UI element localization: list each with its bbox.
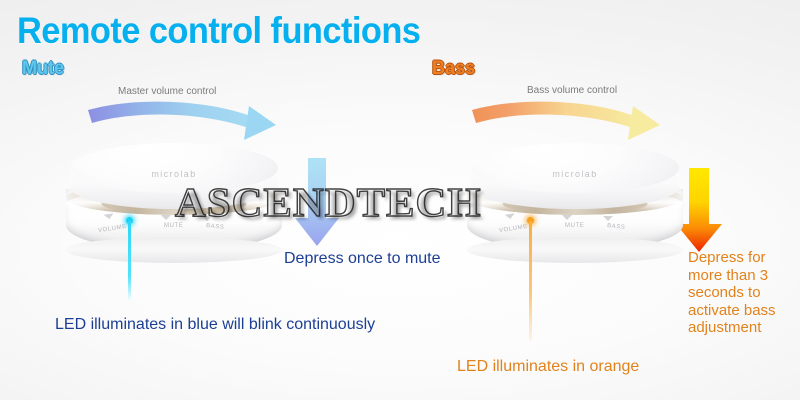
mute-marker-icon[interactable] (161, 215, 171, 220)
infographic-canvas: Remote control functions Mute Master vol… (0, 0, 800, 400)
button-label-volume[interactable]: VOLUME (499, 224, 529, 234)
page-title: Remote control functions (17, 10, 420, 52)
speaker-lid-top: microlab (471, 143, 679, 193)
mute-marker-icon[interactable] (562, 215, 572, 220)
speaker-brand-label: microlab (471, 169, 679, 179)
bass-marker-icon[interactable] (603, 216, 613, 221)
callout-depress-for-bass: Depress for more than 3 seconds to activ… (688, 249, 800, 337)
button-label-mute[interactable]: MUTE (565, 223, 584, 229)
callout-led-orange: LED illuminates in orange (457, 358, 639, 376)
callout-depress-once-to-mute: Depress once to mute (284, 249, 441, 268)
button-label-volume[interactable]: VOLUME (98, 224, 128, 234)
led-pointer-line-orange (529, 221, 532, 341)
led-pointer-line-blue (128, 221, 131, 301)
watermark: ASCENDTECH (175, 178, 482, 226)
master-volume-control-caption: Master volume control (118, 86, 216, 97)
section-label-bass: Bass (432, 58, 475, 80)
button-label-bass[interactable]: BASS (607, 223, 626, 231)
callout-led-blue: LED illuminates in blue will blink conti… (55, 315, 375, 334)
speaker-device-bass: microlab VOLUME MUTE BASS (459, 137, 691, 265)
speaker-button-strip: VOLUME MUTE BASS (459, 221, 691, 237)
section-label-mute: Mute (22, 58, 64, 80)
bass-volume-control-caption: Bass volume control (527, 85, 617, 96)
